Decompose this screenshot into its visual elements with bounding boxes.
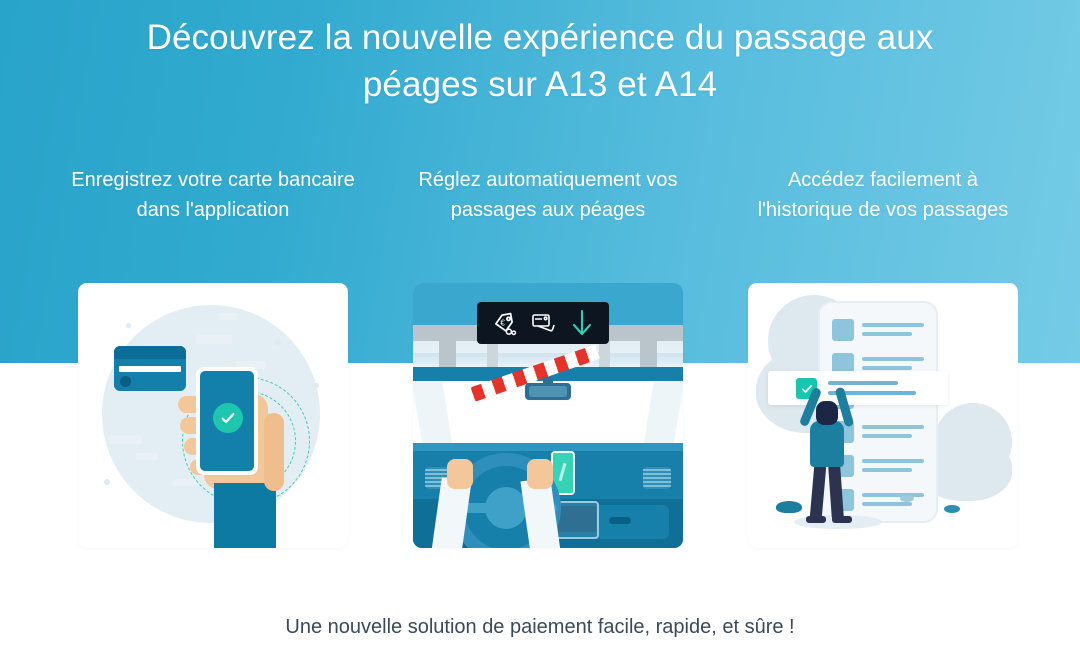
highlighted-list-item	[768, 371, 948, 405]
decor-speck	[108, 435, 142, 444]
feature-heading-3: Accédez facilement à l'historique de vos…	[733, 165, 1033, 225]
credit-card-phone-illustration	[78, 283, 348, 548]
decor-speck	[196, 335, 232, 344]
air-vent	[643, 467, 671, 489]
payment-cards-icon	[529, 310, 557, 336]
feature-heading-1: Enregistrez votre carte bancaire dans l'…	[63, 165, 363, 225]
list-item-line	[828, 381, 898, 385]
sleeve	[214, 483, 276, 548]
feature-column-2: Réglez automatiquement vos passages aux …	[398, 165, 698, 225]
decor-speck	[136, 453, 158, 460]
person-body	[810, 421, 844, 467]
list-item-line	[862, 502, 912, 506]
mirror-glass	[529, 386, 567, 397]
list-item-line	[862, 425, 924, 429]
list-item	[832, 489, 928, 513]
footer-tagline: Une nouvelle solution de paiement facile…	[0, 612, 1080, 642]
illustration-wrap-1	[78, 283, 348, 548]
driver-hand-right	[527, 459, 553, 489]
feature-column-3: Accédez facilement à l'historique de vos…	[733, 165, 1033, 225]
bank-card-chip	[120, 376, 131, 387]
page-title-line-1: Découvrez la nouvelle expérience du pass…	[147, 18, 934, 57]
bank-card-band	[114, 346, 186, 359]
hand-thumb	[264, 413, 284, 491]
list-item-line	[862, 493, 924, 497]
page-title-line-2: péages sur A13 et A14	[0, 61, 1080, 108]
history-list-person-illustration	[748, 283, 1018, 548]
decor-plant	[776, 501, 802, 513]
list-item-line	[862, 366, 912, 370]
down-arrow-icon	[569, 308, 595, 338]
list-item	[832, 319, 928, 343]
decor-plant	[900, 495, 914, 502]
bank-card-stripe	[119, 366, 181, 372]
list-item	[832, 455, 928, 479]
decor-speck	[218, 313, 238, 320]
page-title: Découvrez la nouvelle expérience du pass…	[0, 14, 1080, 108]
promo-page: Découvrez la nouvelle expérience du pass…	[0, 0, 1080, 670]
illustration-wrap-3	[748, 283, 1018, 548]
success-check-icon	[213, 403, 243, 433]
toll-gate-car-illustration: €	[413, 283, 683, 548]
decor-dot	[274, 339, 281, 346]
list-item-line	[862, 357, 924, 361]
list-item-line	[862, 332, 912, 336]
driver-hand-left	[447, 459, 473, 489]
list-item-line	[862, 434, 912, 438]
price-tag-euro-icon: €	[491, 310, 517, 336]
decor-plant	[944, 505, 960, 513]
list-item-line	[862, 459, 924, 463]
person-shoe-left	[806, 516, 826, 523]
feature-heading-2: Réglez automatiquement vos passages aux …	[398, 165, 698, 225]
list-item-thumb	[832, 319, 854, 341]
person-head	[816, 401, 838, 425]
list-item-line	[862, 468, 912, 472]
feature-column-1: Enregistrez votre carte bancaire dans l'…	[63, 165, 363, 225]
dashboard-screen-glass	[558, 506, 596, 532]
decor-dot	[126, 323, 131, 328]
toll-sign: €	[477, 302, 609, 344]
svg-text:€: €	[500, 318, 505, 327]
illustration-wrap-2: €	[413, 283, 683, 548]
person-shoe-right	[832, 516, 852, 523]
list-item-line	[862, 323, 924, 327]
rearview-mirror	[525, 383, 571, 400]
decor-dot	[104, 479, 110, 485]
steering-wheel-hub	[485, 487, 527, 529]
glovebox-handle	[609, 517, 631, 524]
feature-columns: Enregistrez votre carte bancaire dans l'…	[0, 165, 1080, 565]
